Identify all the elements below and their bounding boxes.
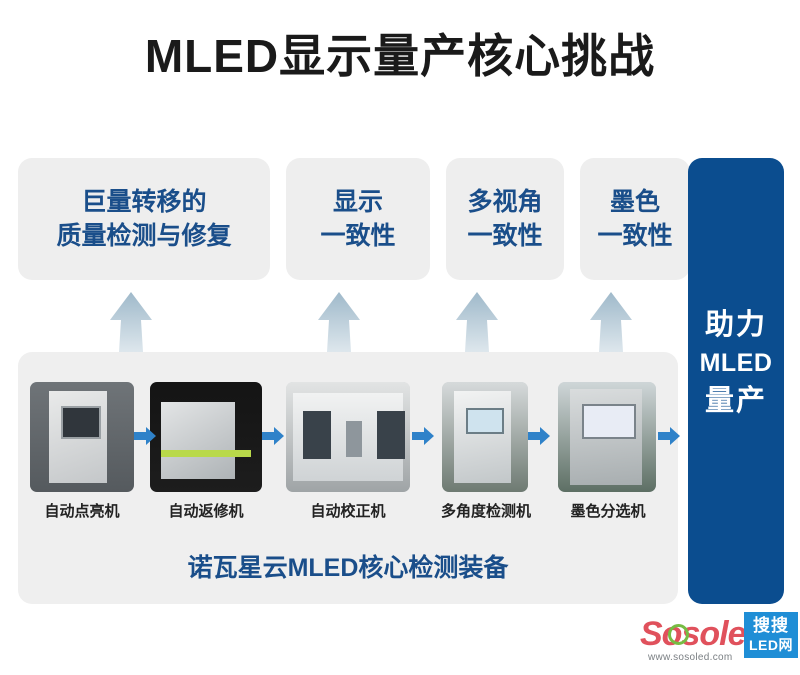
equipment-row: 自动点亮机 自动返修机 自动校正机 多角度检测机 墨色分选机 xyxy=(18,382,678,542)
equipment-caption: 诺瓦星云MLED核心检测装备 xyxy=(18,548,678,584)
equipment-photo-ink-color-sorting[interactable] xyxy=(558,382,656,492)
side-panel-line-1: 助力 xyxy=(705,306,767,344)
equipment-label-auto-repair: 自动返修机 xyxy=(150,500,262,521)
card-line-2: 一致性 xyxy=(467,219,542,253)
machine-photo xyxy=(442,382,528,492)
equipment-photo-auto-lighting[interactable] xyxy=(30,382,134,492)
equipment-photo-auto-calibration[interactable] xyxy=(286,382,410,492)
machine-photo xyxy=(150,382,262,492)
card-line-2: 一致性 xyxy=(597,219,672,253)
card-line-1: 显示 xyxy=(333,185,383,219)
page-title: MLED显示量产核心挑战 xyxy=(0,26,800,86)
challenge-cards-row: 巨量转移的 质量检测与修复 显示 一致性 多视角 一致性 墨色 一致性 xyxy=(18,158,678,280)
arrow-right-icon xyxy=(412,426,434,446)
challenge-card-viewing-angle-uniformity[interactable]: 多视角 一致性 xyxy=(446,158,564,280)
badge-line-1: 搜搜 xyxy=(753,616,789,636)
equipment-photo-multi-angle-inspection[interactable] xyxy=(442,382,528,492)
watermark-url: www.sosoled.com xyxy=(648,652,733,663)
bulb-icon xyxy=(668,624,689,645)
machine-photo xyxy=(286,382,410,492)
card-line-2: 一致性 xyxy=(320,219,395,253)
challenge-card-ink-color-uniformity[interactable]: 墨色 一致性 xyxy=(580,158,690,280)
badge-line-2: LED网 xyxy=(749,636,793,654)
machine-photo xyxy=(558,382,656,492)
watermark: Sosoled www.sosoled.com 搜搜 LED网 xyxy=(640,612,798,668)
arrow-right-icon xyxy=(658,426,680,446)
arrow-right-icon xyxy=(134,426,156,446)
card-line-2: 质量检测与修复 xyxy=(56,219,231,253)
challenge-card-display-uniformity[interactable]: 显示 一致性 xyxy=(286,158,430,280)
side-panel-mass-production[interactable]: 助力 MLED 量产 xyxy=(688,158,784,604)
equipment-label-ink-color-sorting: 墨色分选机 xyxy=(552,500,664,521)
sosoled-badge: 搜搜 LED网 xyxy=(744,612,798,658)
challenge-card-mass-transfer[interactable]: 巨量转移的 质量检测与修复 xyxy=(18,158,270,280)
equipment-label-multi-angle-inspection: 多角度检测机 xyxy=(426,500,546,521)
side-panel-line-3: 量产 xyxy=(705,382,767,420)
card-line-1: 多视角 xyxy=(467,185,542,219)
arrow-right-icon xyxy=(528,426,550,446)
equipment-label-auto-calibration: 自动校正机 xyxy=(286,500,410,521)
arrow-right-icon xyxy=(262,426,284,446)
side-panel-line-2: MLED xyxy=(700,344,773,382)
infographic-root: MLED显示量产核心挑战 巨量转移的 质量检测与修复 显示 一致性 多视角 一致… xyxy=(0,0,800,675)
equipment-label-auto-lighting: 自动点亮机 xyxy=(30,500,134,521)
equipment-photo-auto-repair[interactable] xyxy=(150,382,262,492)
sosoled-logo: Sosoled www.sosoled.com xyxy=(640,614,744,654)
equipment-panel: 自动点亮机 自动返修机 自动校正机 多角度检测机 墨色分选机 xyxy=(18,352,678,604)
card-line-1: 墨色 xyxy=(610,185,660,219)
card-line-1: 巨量转移的 xyxy=(81,185,206,219)
machine-photo xyxy=(30,382,134,492)
